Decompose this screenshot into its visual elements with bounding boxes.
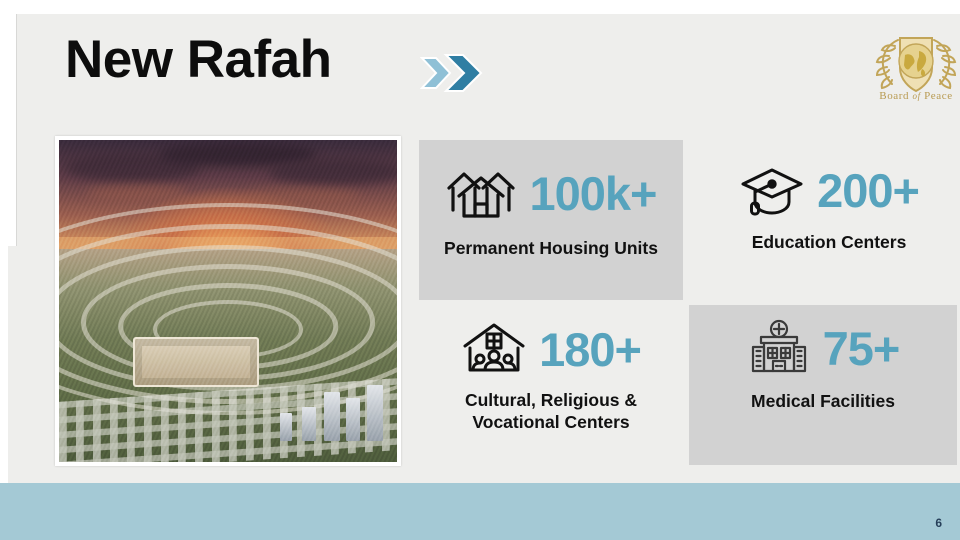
houses-icon — [445, 162, 517, 224]
stat-medical-facilities: 75+ Medical Facilities — [689, 305, 957, 465]
footer-band — [0, 483, 960, 540]
logo-caption-peace: Peace — [924, 90, 953, 102]
community-house-icon — [461, 320, 527, 378]
logo-caption: Board of Peace — [864, 90, 960, 102]
double-chevron-icon — [420, 50, 484, 96]
stat-label: Education Centers — [698, 232, 960, 254]
city-photo-frame — [55, 136, 401, 466]
stat-label-line-1: Cultural, Religious & — [427, 390, 675, 412]
slide-surface: New Rafah — [8, 0, 960, 540]
stat-value: 180+ — [539, 326, 641, 373]
stat-value: 100k+ — [529, 170, 656, 217]
stat-label: Medical Facilities — [689, 391, 957, 413]
hospital-icon — [747, 319, 811, 377]
page-number: 6 — [935, 516, 942, 530]
stat-value: 75+ — [823, 325, 900, 372]
stat-permanent-housing-units: 100k+ Permanent Housing Units — [419, 140, 683, 300]
stat-label: Permanent Housing Units — [419, 238, 683, 260]
aerial-city-photo — [59, 140, 397, 462]
stat-label: Cultural, Religious & Vocational Centers — [419, 390, 683, 434]
logo-caption-of: of — [913, 91, 921, 101]
stat-value: 200+ — [817, 167, 919, 214]
page-title: New Rafah — [65, 33, 331, 86]
graduation-cap-icon — [739, 162, 805, 218]
left-edge-rail — [8, 14, 17, 246]
stat-education-centers: 200+ Education Centers — [698, 150, 960, 290]
photo-grain-overlay — [59, 140, 397, 462]
stat-cultural-religious-vocational-centers: 180+ Cultural, Religious & Vocational Ce… — [419, 310, 683, 460]
top-white-strip — [8, 0, 960, 14]
stat-label-line-2: Vocational Centers — [427, 412, 675, 434]
logo-caption-board: Board — [879, 90, 909, 102]
slide-canvas: New Rafah — [0, 0, 960, 540]
